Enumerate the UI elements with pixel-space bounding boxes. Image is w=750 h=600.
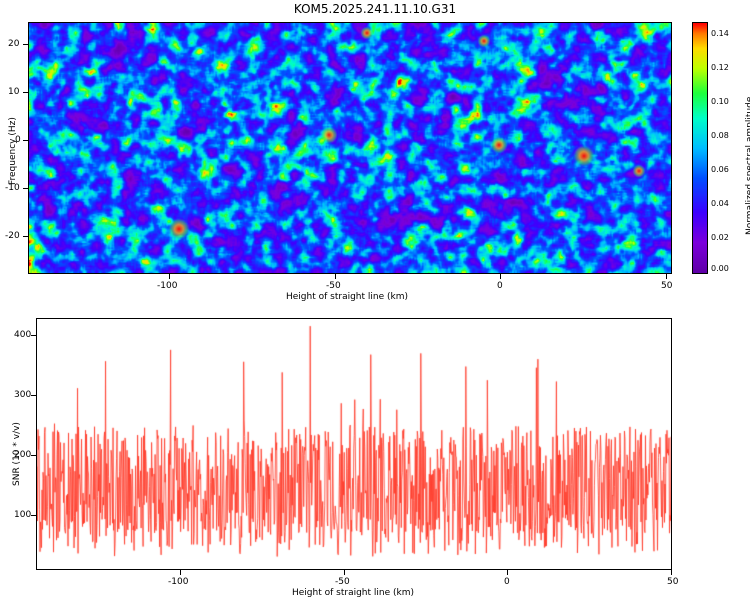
snr-xlabel: Height of straight line (km) — [292, 588, 414, 598]
spectro-ytickmark — [23, 140, 28, 141]
cb-tick-014: 0.14 — [711, 29, 729, 38]
cb-tick-000: 0.00 — [711, 264, 729, 273]
spectrogram-canvas — [29, 23, 671, 273]
spectro-xtick-neg100: -100 — [157, 281, 177, 291]
cb-tick-008: 0.08 — [711, 131, 729, 140]
snr-ytickmark — [31, 395, 36, 396]
cb-tick-006: 0.06 — [711, 165, 729, 174]
snr-xtick-neg100: -100 — [168, 577, 188, 587]
spectro-xtick-neg50: -50 — [326, 281, 341, 291]
spectro-xtickmark — [500, 274, 501, 279]
snr-ytickmark — [31, 515, 36, 516]
spectro-xtickmark — [666, 274, 667, 279]
spectro-ytick-neg20: -20 — [5, 231, 20, 241]
snr-ytick-300: 300 — [14, 390, 31, 400]
spectro-ytickmark — [23, 188, 28, 189]
spectro-xtick-0: 0 — [497, 281, 503, 291]
spectro-ytickmark — [23, 92, 28, 93]
snr-xtick-0: 0 — [504, 577, 510, 587]
spectrogram-plot — [28, 22, 672, 274]
snr-ytickmark — [31, 455, 36, 456]
colorbar — [692, 22, 708, 274]
snr-xtickmark — [344, 570, 345, 575]
spectro-ytickmark — [23, 44, 28, 45]
snr-xtickmark — [180, 570, 181, 575]
snr-plot — [36, 318, 672, 570]
cb-tick-002: 0.02 — [711, 233, 729, 242]
spectro-ytickmark — [23, 236, 28, 237]
spectro-xtickmark — [335, 274, 336, 279]
snr-xtickmark — [507, 570, 508, 575]
snr-ylabel: SNR (10 * v/v) — [12, 422, 22, 486]
cb-tick-004: 0.04 — [711, 199, 729, 208]
snr-ytick-400: 400 — [14, 330, 31, 340]
spectro-xtickmark — [169, 274, 170, 279]
cb-tick-012: 0.12 — [711, 63, 729, 72]
spectro-ytick-10: 10 — [8, 87, 19, 97]
colorbar-label: Normalized spectral amplitude — [745, 97, 750, 235]
spectro-ytick-20: 20 — [8, 39, 19, 49]
snr-xtick-neg50: -50 — [335, 577, 350, 587]
snr-ytick-100: 100 — [14, 510, 31, 520]
snr-xtickmark — [671, 570, 672, 575]
spectro-ylabel: Frequency (Hz) — [8, 117, 18, 185]
snr-xtick-50: 50 — [667, 577, 678, 587]
colorbar-canvas — [693, 23, 707, 273]
spectro-xtick-50: 50 — [661, 281, 672, 291]
spectro-xlabel: Height of straight line (km) — [286, 292, 408, 302]
snr-ytickmark — [31, 335, 36, 336]
page-title: KOM5.2025.241.11.10.G31 — [0, 2, 750, 16]
snr-canvas — [37, 319, 671, 569]
cb-tick-010: 0.10 — [711, 97, 729, 106]
